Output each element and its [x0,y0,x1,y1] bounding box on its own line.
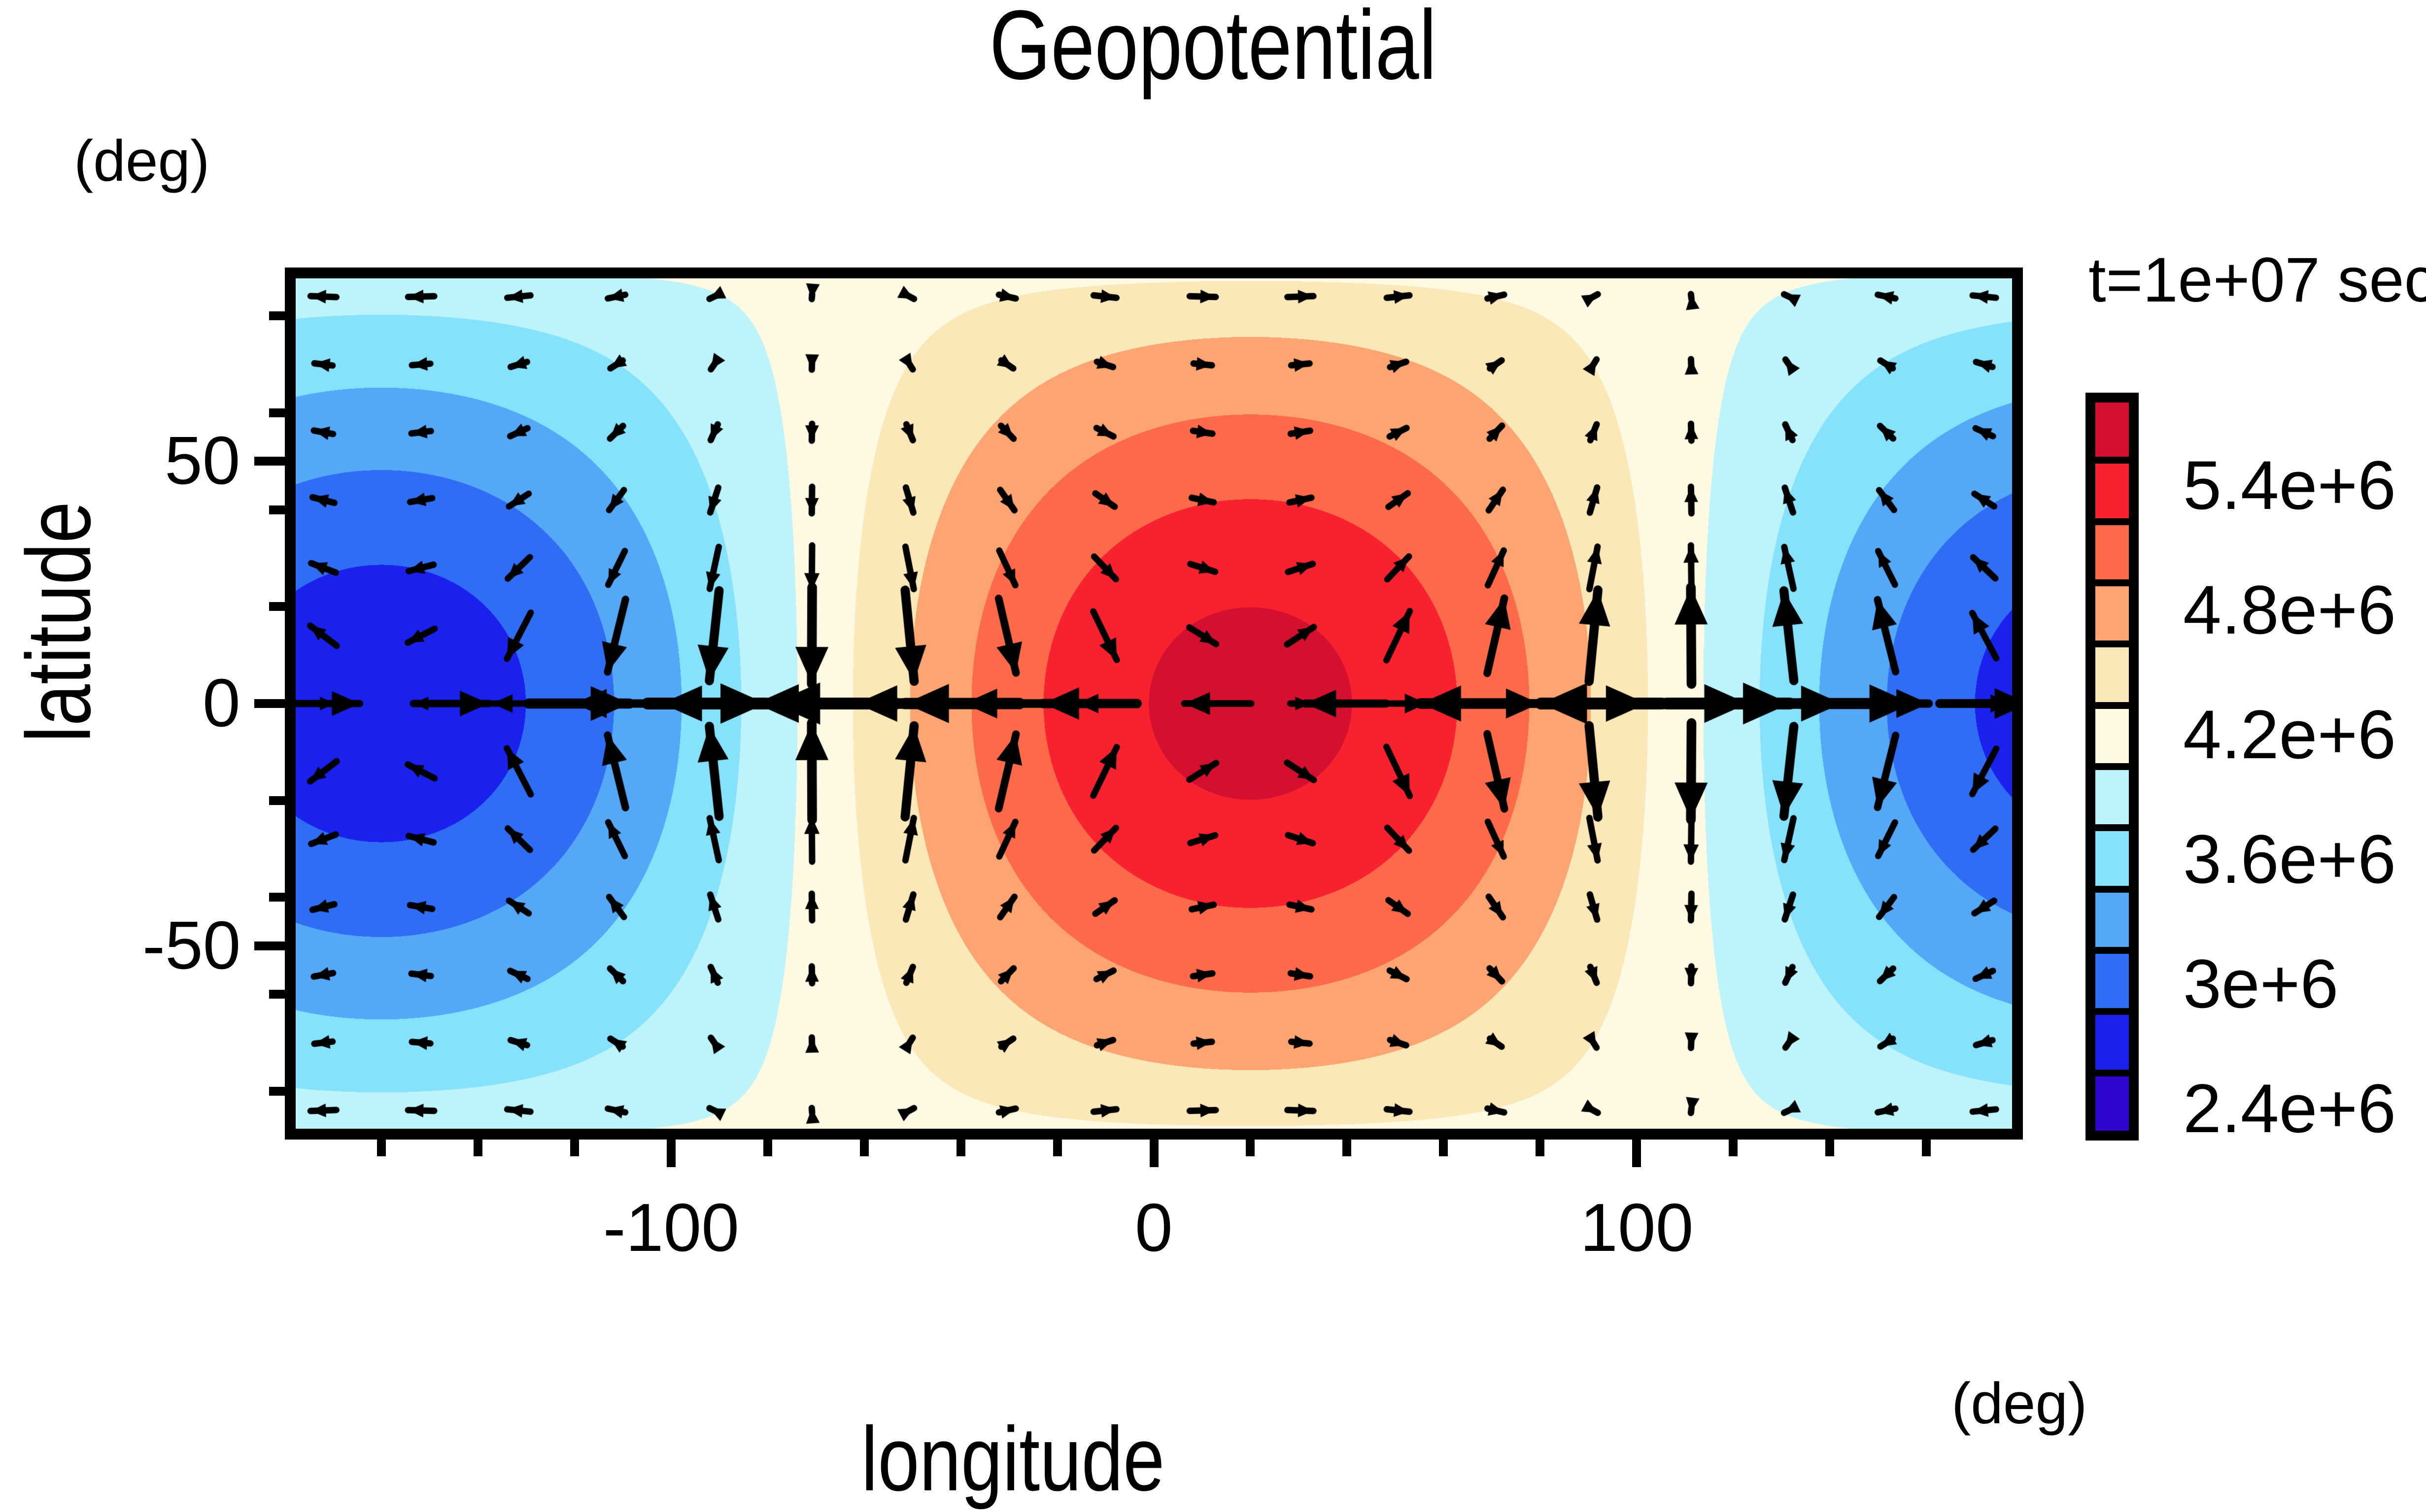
tick-mark [254,457,285,466]
colorbar-swatch [2095,770,2129,831]
tick-mark [860,1137,869,1156]
colorbar-tick-label: 3.6e+6 [2183,825,2396,894]
colorbar-tick-label: 4.2e+6 [2183,700,2396,769]
colorbar-swatch [2095,1076,2129,1131]
colorbar-swatch [2095,831,2129,892]
tick-mark [1053,1137,1062,1156]
colorbar-swatch [2095,954,2129,1015]
page-title: Geopotential [242,0,2183,95]
colorbar-swatch [2095,647,2129,708]
tick-mark [667,1137,676,1167]
tick-mark [269,1087,288,1096]
tick-mark [474,1137,482,1156]
tick-mark [1536,1137,1544,1156]
tick-mark [1922,1137,1931,1156]
colorbar-swatch [2095,893,2129,954]
tick-mark [377,1137,386,1156]
tick-mark [1825,1137,1834,1156]
colorbar-swatch [2095,525,2129,586]
colorbar-tick-label: 2.4e+6 [2183,1074,2396,1143]
colorbar-swatch [2095,403,2129,464]
colorbar-swatch [2095,709,2129,770]
tick-mark [269,408,288,417]
tick-label: 100 [1580,1194,1693,1262]
tick-mark [254,941,285,950]
colorbar-swatch [2095,1015,2129,1076]
tick-mark [1439,1137,1448,1156]
tick-mark [1342,1137,1351,1156]
colorbar-tick-label: 5.4e+6 [2183,451,2396,520]
tick-mark [254,699,285,708]
y-axis-title: latitude [14,440,105,804]
colorbar-tick-label: 3e+6 [2183,949,2338,1018]
figure-root: Geopotential (deg) (deg) latitude longit… [0,0,2426,1512]
tick-mark [1632,1137,1641,1167]
tick-mark [1729,1137,1738,1156]
tick-mark [957,1137,965,1156]
colorbar-tick-label: 4.8e+6 [2183,575,2396,644]
contour-field-canvas [285,268,2023,1140]
y-axis-units-label: (deg) [74,132,209,190]
tick-label: 0 [1135,1194,1173,1262]
tick-mark [1150,1137,1159,1167]
tick-mark [1246,1137,1255,1156]
colorbar [2085,393,2139,1141]
tick-mark [269,311,288,320]
colorbar-swatch [2095,464,2129,525]
time-annotation: t=1e+07 sec [2088,249,2426,312]
tick-label: -100 [603,1194,739,1262]
tick-mark [269,990,288,999]
tick-label: 0 [203,669,240,737]
tick-mark [269,796,288,805]
x-axis-title: longitude [0,1414,2025,1505]
tick-mark [269,602,288,611]
tick-mark [570,1137,579,1156]
tick-mark [763,1137,772,1156]
colorbar-swatch [2095,586,2129,647]
tick-mark [269,505,288,514]
tick-label: 50 [165,427,240,495]
tick-mark [269,893,288,902]
tick-label: -50 [142,911,240,979]
